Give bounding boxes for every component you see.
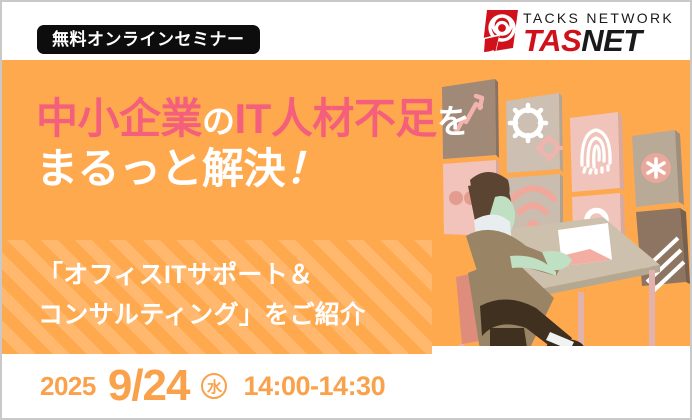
screen-lines xyxy=(636,208,690,294)
hero-illustration xyxy=(432,60,690,354)
headline-line-2: まるっと解決！ xyxy=(36,145,469,192)
headline-seg-wo: を xyxy=(437,103,470,140)
event-year: 2025 xyxy=(40,371,96,402)
headline-seg-it-shortage: IT人材不足 xyxy=(235,95,437,142)
screen-asterisk xyxy=(632,130,684,207)
seminar-type-badge: 無料オンラインセミナー xyxy=(37,25,260,54)
logo-wordmark: TACKS NETWORK TASNET xyxy=(523,8,674,55)
logo-name: TASNET xyxy=(523,26,674,55)
subtitle: 「オフィスITサポート＆ コンサルティング」をご紹介 xyxy=(38,256,365,335)
banner-header: 無料オンラインセミナー TACKS NETWORK TASNET xyxy=(2,2,690,60)
banner-body: 中小企業のIT人材不足を まるっと解決！ 「オフィスITサポート＆ コンサルティ… xyxy=(2,60,690,354)
subtitle-line-2: コンサルティング」をご紹介 xyxy=(38,296,365,336)
headline-seg-smb: 中小企業 xyxy=(36,95,202,142)
event-datetime-bar: 2025 9/24 水 14:00-14:30 xyxy=(2,354,690,418)
logo-name-net: NET xyxy=(581,23,642,58)
headline-exclamation: ！ xyxy=(285,145,327,192)
headline-line-1: 中小企業のIT人材不足を xyxy=(36,96,469,141)
logo-name-tas: TAS xyxy=(523,23,581,58)
event-day-of-week: 水 xyxy=(201,373,227,399)
headline-seg-no: の xyxy=(202,103,235,140)
screen-fingerprint xyxy=(570,112,624,192)
tasnet-swirl-logo-icon xyxy=(480,8,520,56)
illustration-svg xyxy=(432,60,690,354)
headline: 中小企業のIT人材不足を まるっと解決！ xyxy=(36,96,469,192)
event-time: 14:00-14:30 xyxy=(243,371,385,402)
webinar-banner: 無料オンラインセミナー TACKS NETWORK TASNET xyxy=(0,0,692,420)
screen-gears xyxy=(506,93,563,173)
event-date: 9/24 xyxy=(108,364,190,408)
headline-seg-solve: まるっと解決 xyxy=(36,145,285,192)
subtitle-line-1: 「オフィスITサポート＆ xyxy=(38,256,365,296)
company-logo: TACKS NETWORK TASNET xyxy=(480,8,674,56)
